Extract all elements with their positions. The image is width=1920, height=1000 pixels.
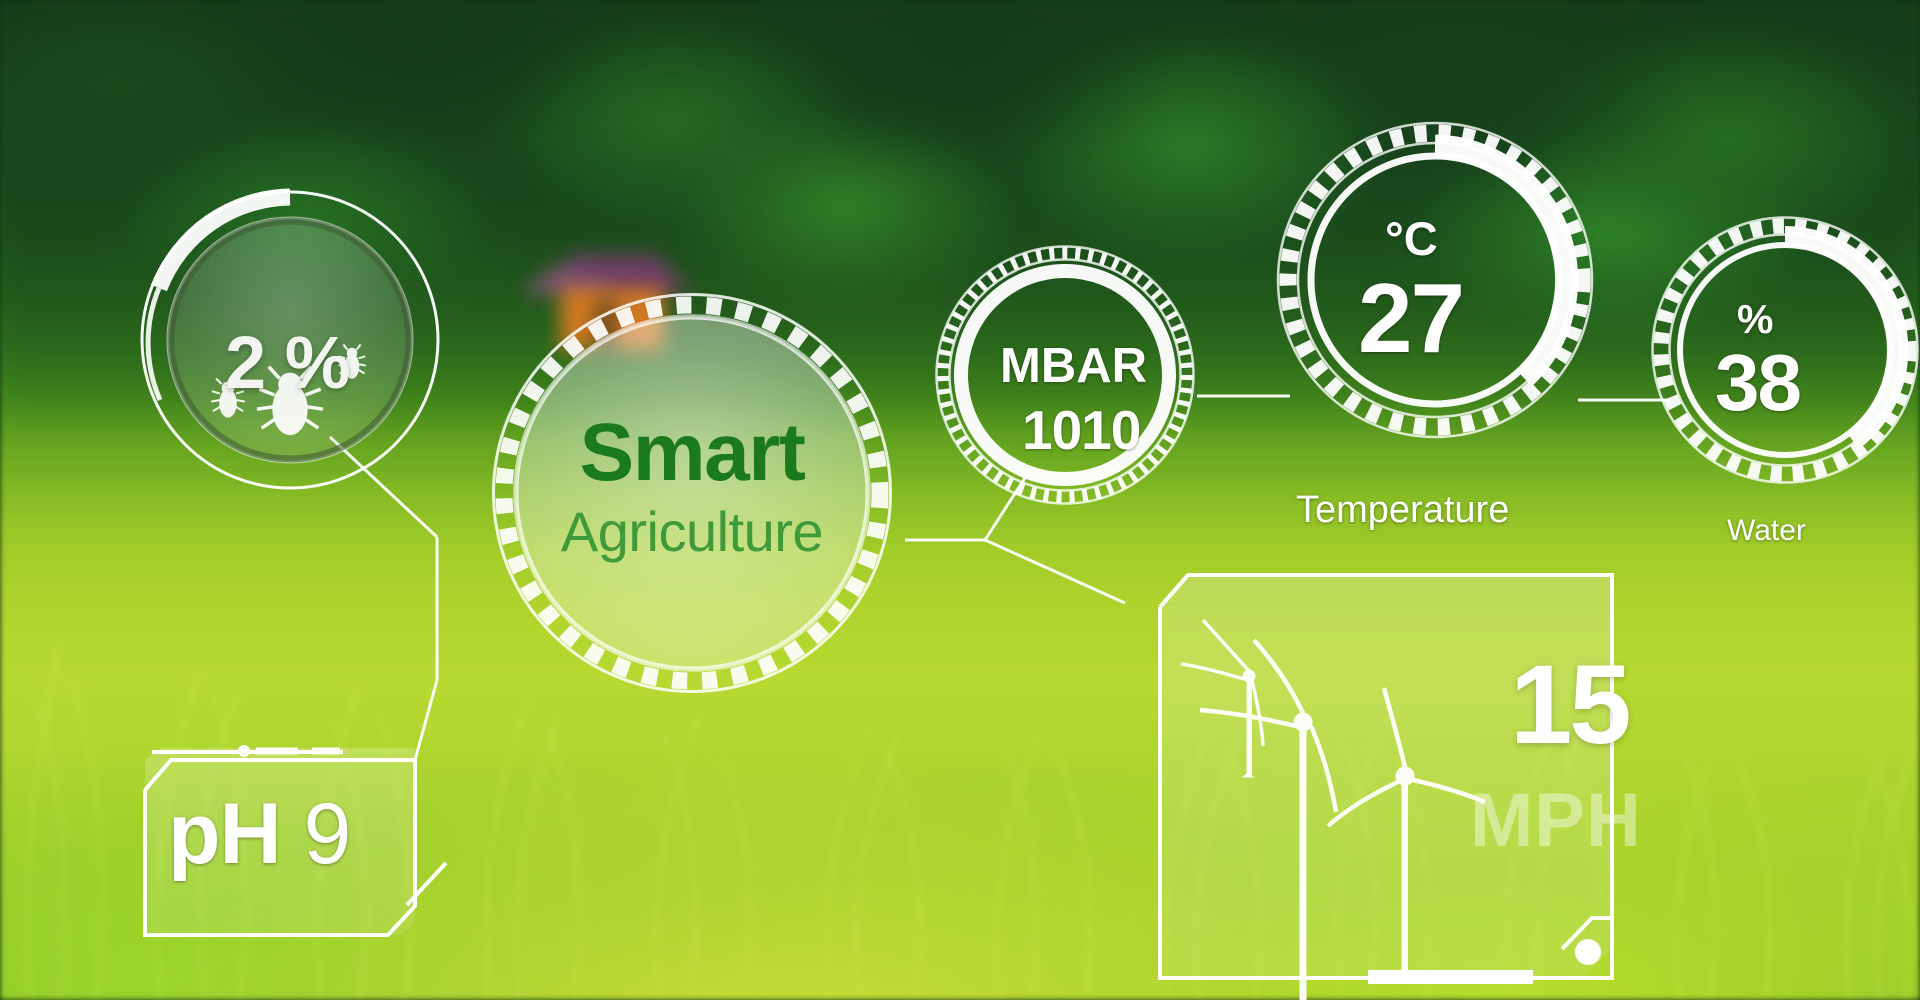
hub-title-line2: Agriculture [532, 504, 852, 560]
pressure-value-text: 1010 [1022, 398, 1140, 462]
hud-overlay: 2 % MBAR 1010 °C 27 Temperature % 38 Wat… [0, 0, 1920, 1000]
hub-title-line1: Smart [532, 412, 852, 494]
ph-value-text: pH 9 [168, 785, 350, 884]
pressure-unit-text: MBAR [1000, 338, 1147, 394]
temperature-label: Temperature [1296, 489, 1509, 532]
pest-value-text: 2 % [225, 320, 350, 405]
wind-unit-text: MPH [1470, 777, 1642, 864]
ph-number: 9 [304, 786, 351, 882]
water-value-text: 38 [1715, 337, 1800, 429]
smart-agriculture-dashboard: 2 % MBAR 1010 °C 27 Temperature % 38 Wat… [0, 0, 1920, 1000]
temperature-value-text: 27 [1358, 262, 1463, 375]
wind-value-text: 15 [1510, 640, 1629, 769]
water-unit-text: % [1737, 296, 1773, 343]
water-label: Water [1727, 514, 1806, 548]
ph-prefix: pH [168, 786, 281, 882]
hub-title: Smart Agriculture [532, 412, 852, 560]
temperature-unit-text: °C [1385, 211, 1438, 266]
